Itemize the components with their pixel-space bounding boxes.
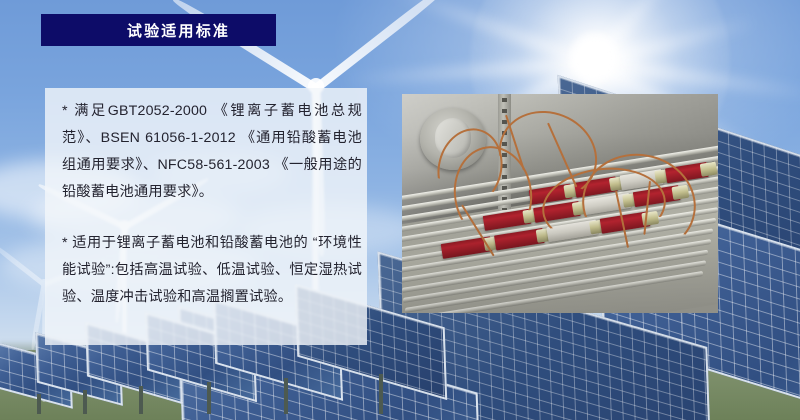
panel-support-leg bbox=[284, 378, 288, 414]
title-bar: 试验适用标准 bbox=[41, 14, 276, 46]
content-text-block: * 满足GBT2052-2000 《锂离子蓄电池总规范》、BSEN 61056-… bbox=[62, 98, 362, 311]
page-title: 试验适用标准 bbox=[127, 20, 230, 41]
panel-support-leg bbox=[83, 390, 87, 414]
standards-paragraph: * 满足GBT2052-2000 《锂离子蓄电池总规范》、BSEN 61056-… bbox=[62, 98, 362, 206]
scope-paragraph: * 适用于锂离子蓄电池和铅酸蓄电池的 “环境性能试验”:包括高温试验、低温试验、… bbox=[62, 230, 362, 311]
slide-canvas: * 满足GBT2052-2000 《锂离子蓄电池总规范》、BSEN 61056-… bbox=[0, 0, 800, 420]
panel-support-leg bbox=[379, 374, 383, 414]
panel-support-leg bbox=[139, 386, 143, 414]
tray-clamp bbox=[700, 161, 718, 176]
panel-support-leg bbox=[207, 382, 211, 414]
sun-icon bbox=[568, 32, 620, 84]
test-chamber-photo bbox=[402, 94, 718, 313]
panel-support-leg bbox=[37, 394, 41, 414]
